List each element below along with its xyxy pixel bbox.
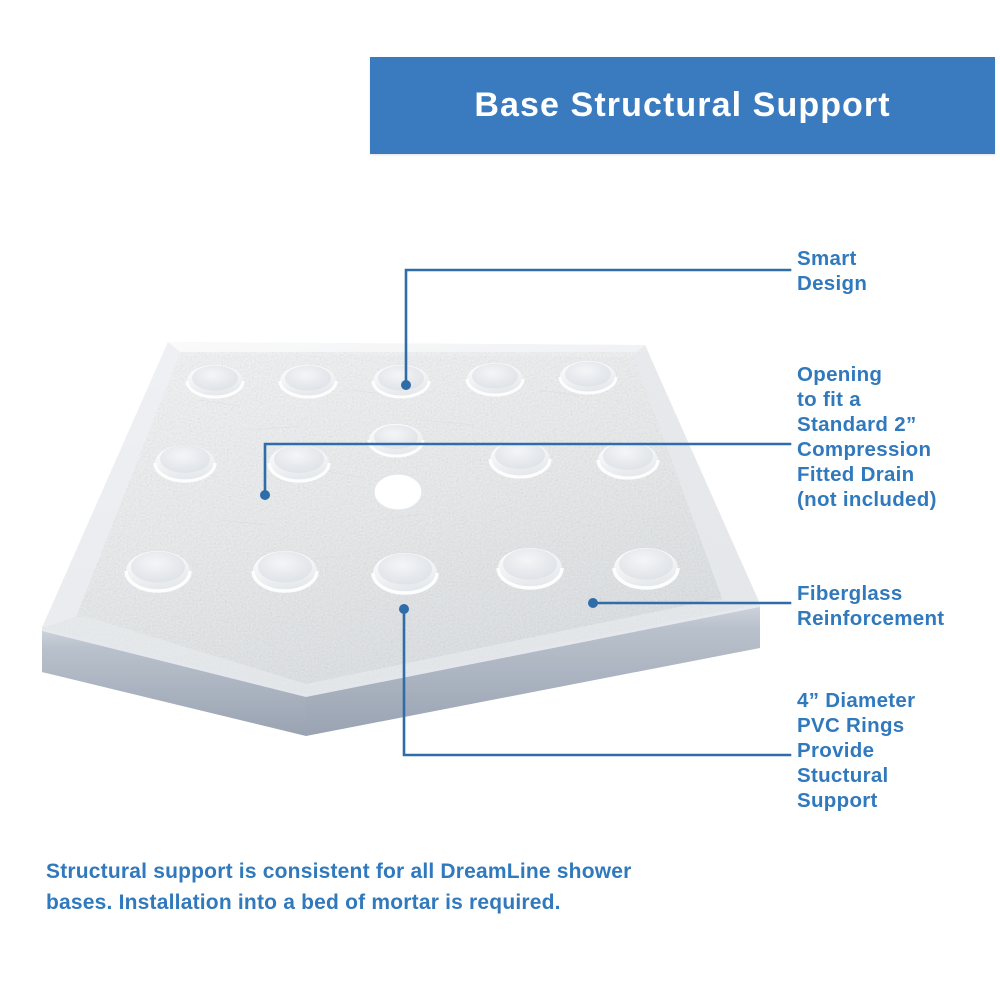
diagram-page: Base Structural Support — [0, 0, 1000, 1000]
pvc-ring — [369, 424, 423, 456]
pvc-ring — [498, 548, 562, 588]
leader-dot-pvc-rings — [399, 604, 409, 614]
pvc-ring — [187, 365, 243, 397]
pvc-ring — [614, 548, 678, 588]
callout-label-fiberglass-reinforcement: Fiberglass Reinforcement — [797, 581, 944, 631]
pvc-ring — [126, 551, 190, 591]
leader-dot-fiberglass — [588, 598, 598, 608]
pvc-ring — [560, 361, 616, 393]
pvc-ring — [373, 365, 429, 397]
pvc-ring — [490, 441, 550, 477]
pvc-ring — [598, 442, 658, 478]
callout-label-drain-opening: Opening to fit a Standard 2” Compression… — [797, 362, 937, 512]
pvc-ring — [280, 365, 336, 397]
leader-dot-drain-opening — [260, 490, 270, 500]
callout-label-smart-design: Smart Design — [797, 246, 867, 296]
pvc-ring — [253, 551, 317, 591]
pvc-ring — [373, 553, 437, 593]
pvc-ring — [467, 363, 523, 395]
pvc-ring — [155, 445, 215, 481]
footer-caption: Structural support is consistent for all… — [46, 856, 686, 918]
pvc-ring — [269, 445, 329, 481]
leader-dot-smart-design — [401, 380, 411, 390]
drain-opening — [374, 474, 422, 510]
callout-label-pvc-rings: 4” Diameter PVC Rings Provide Stuctural … — [797, 688, 915, 813]
